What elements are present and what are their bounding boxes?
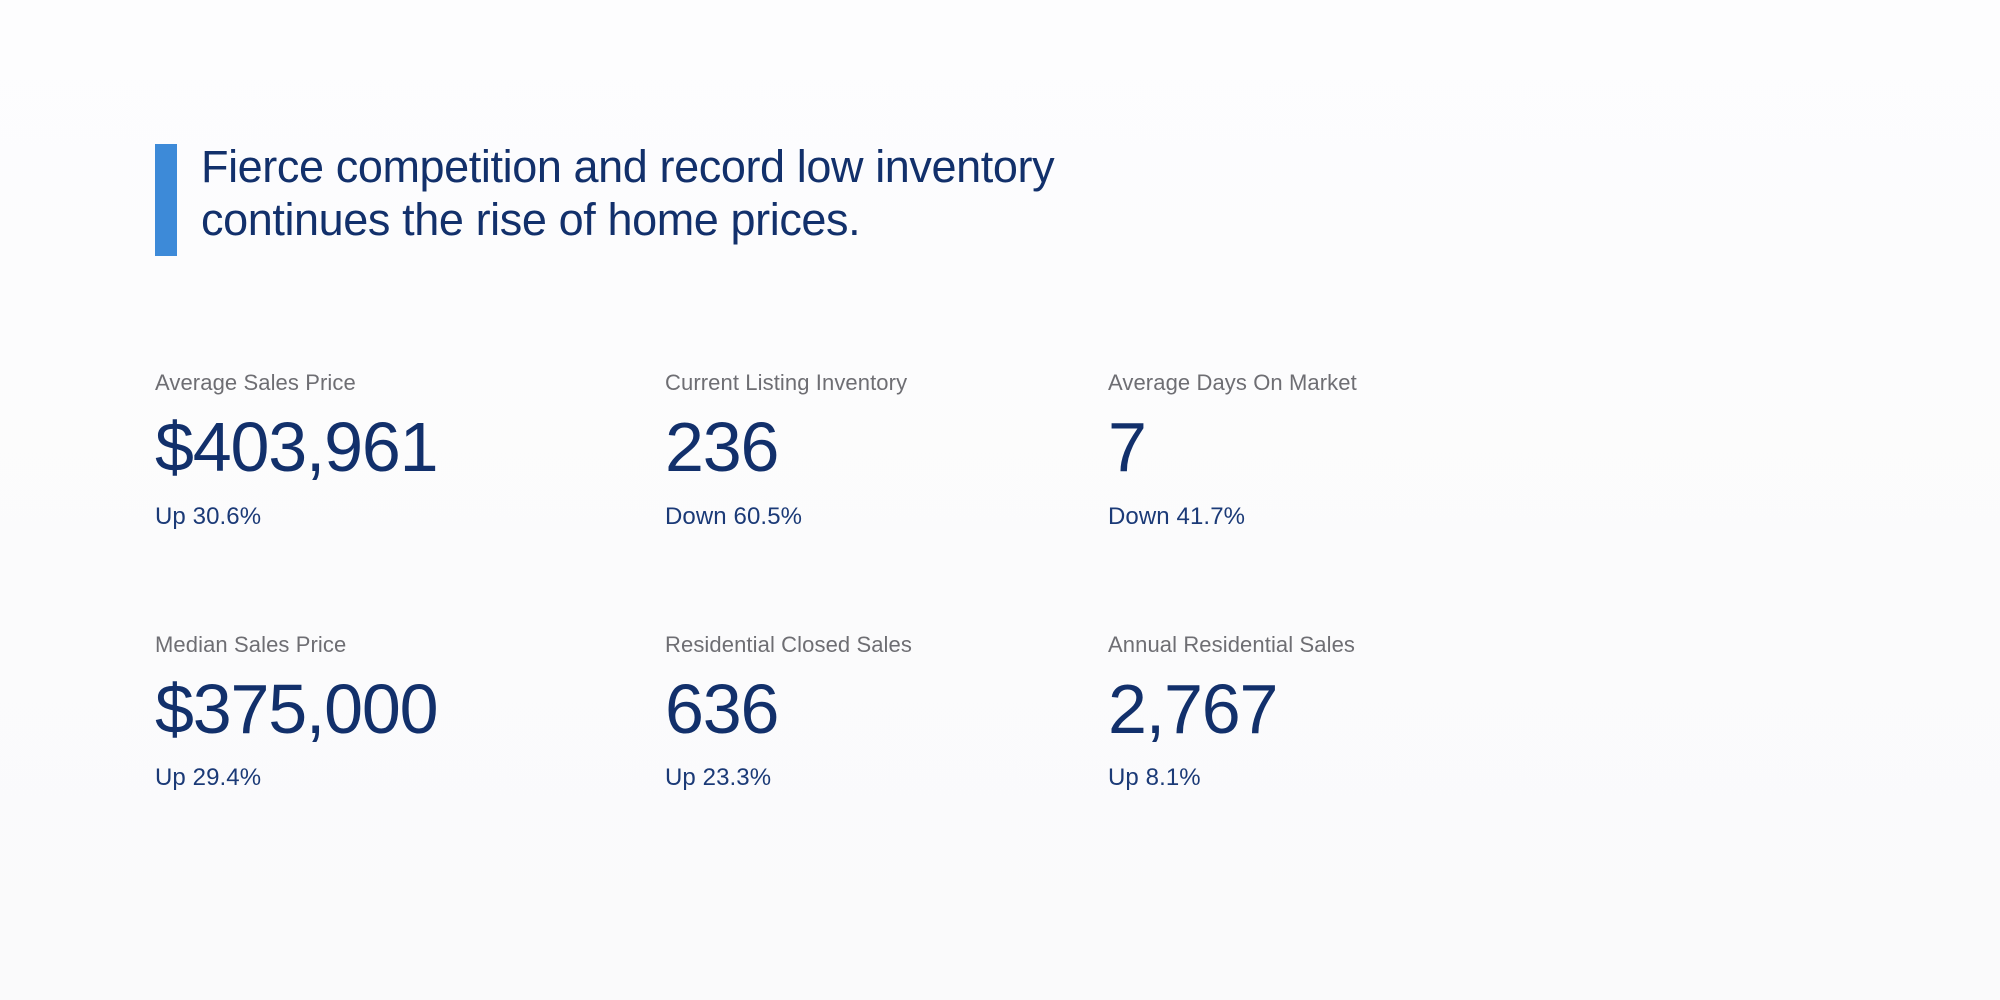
stat-change: Down 60.5% bbox=[665, 503, 1108, 532]
stat-label: Average Sales Price bbox=[155, 370, 665, 396]
stat-change: Up 8.1% bbox=[1108, 764, 1575, 793]
stat-label: Current Listing Inventory bbox=[665, 370, 1108, 396]
accent-bar bbox=[155, 144, 177, 256]
stat-card-annual-residential-sales: Annual Residential Sales 2,767 Up 8.1% bbox=[1108, 632, 1575, 794]
stat-card-average-sales-price: Average Sales Price $403,961 Up 30.6% bbox=[155, 370, 665, 532]
stat-label: Annual Residential Sales bbox=[1108, 632, 1575, 658]
headline-block: Fierce competition and record low invent… bbox=[155, 140, 1054, 256]
stat-card-average-days-on-market: Average Days On Market 7 Down 41.7% bbox=[1108, 370, 1575, 532]
stat-value: 2,767 bbox=[1108, 670, 1575, 748]
stat-change: Up 29.4% bbox=[155, 764, 665, 793]
stat-label: Median Sales Price bbox=[155, 632, 665, 658]
stat-change: Down 41.7% bbox=[1108, 503, 1575, 532]
stat-label: Average Days On Market bbox=[1108, 370, 1575, 396]
stat-value: 636 bbox=[665, 670, 1108, 748]
stat-value: $375,000 bbox=[155, 670, 665, 748]
page-title: Fierce competition and record low invent… bbox=[201, 140, 1054, 246]
stat-card-current-listing-inventory: Current Listing Inventory 236 Down 60.5% bbox=[665, 370, 1108, 532]
stat-value: 7 bbox=[1108, 408, 1575, 486]
stat-value: 236 bbox=[665, 408, 1108, 486]
stat-value: $403,961 bbox=[155, 408, 665, 486]
stat-change: Up 23.3% bbox=[665, 764, 1108, 793]
stat-change: Up 30.6% bbox=[155, 503, 665, 532]
stat-label: Residential Closed Sales bbox=[665, 632, 1108, 658]
stats-grid: Average Sales Price $403,961 Up 30.6% Cu… bbox=[155, 370, 1575, 793]
stat-card-median-sales-price: Median Sales Price $375,000 Up 29.4% bbox=[155, 632, 665, 794]
stat-card-residential-closed-sales: Residential Closed Sales 636 Up 23.3% bbox=[665, 632, 1108, 794]
market-stats-page: Fierce competition and record low invent… bbox=[0, 0, 2000, 1000]
